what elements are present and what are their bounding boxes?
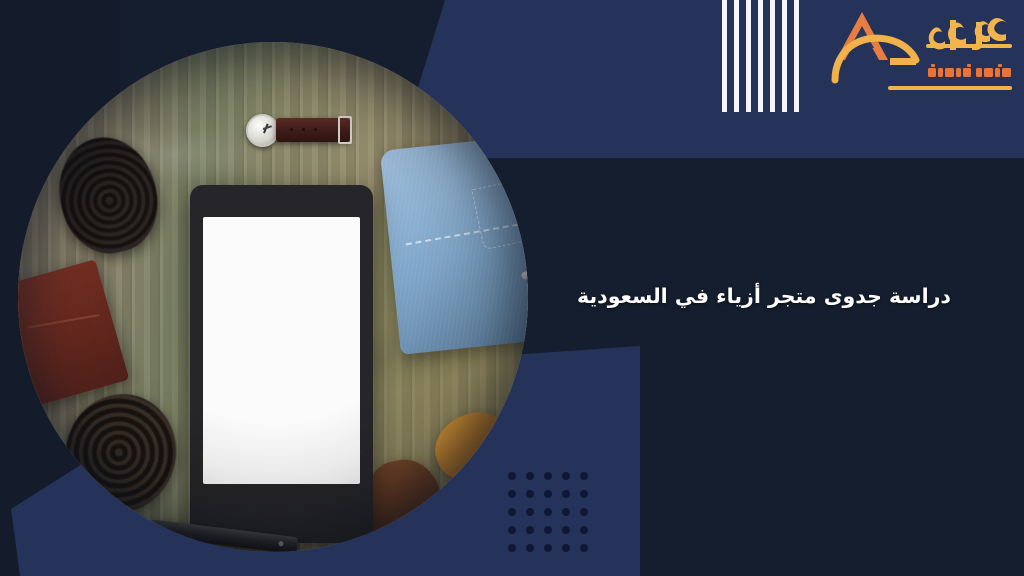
grid-dot [526, 508, 534, 516]
logo-underline [888, 86, 1012, 90]
grid-dot [580, 526, 588, 534]
grid-dot [562, 490, 570, 498]
vertical-bar [782, 0, 787, 112]
brand-logo[interactable]: معوان لخدمات رجال الاعمال [830, 6, 1016, 102]
vertical-bars-decoration [722, 0, 799, 112]
grid-dot [544, 526, 552, 534]
grid-dot [544, 490, 552, 498]
grid-dot [544, 472, 552, 480]
grid-dot [580, 544, 588, 552]
grid-dot [508, 526, 516, 534]
grid-dot [562, 472, 570, 480]
photo-content [18, 42, 528, 552]
circular-flatlay-photo [18, 42, 528, 552]
grid-dot [562, 526, 570, 534]
banner-stage: معوان لخدمات رجال الاعمال دراسة جدوى متج… [0, 0, 1024, 576]
grid-dot [562, 508, 570, 516]
page-title: دراسة جدوى متجر أزياء في السعودية [524, 283, 1004, 310]
grid-dot [544, 508, 552, 516]
grid-dot [580, 490, 588, 498]
grid-dot [508, 490, 516, 498]
grid-dot [526, 472, 534, 480]
grid-dot [526, 490, 534, 498]
grid-dot [544, 544, 552, 552]
grid-dot [508, 508, 516, 516]
grid-dot [508, 544, 516, 552]
grid-dot [562, 544, 570, 552]
photo-shadow-overlay [18, 42, 528, 552]
vertical-bar [746, 0, 751, 112]
vertical-bar [770, 0, 775, 112]
grid-dot [526, 544, 534, 552]
grid-dot [580, 472, 588, 480]
vertical-bar [734, 0, 739, 112]
vertical-bar [758, 0, 763, 112]
vertical-bar [794, 0, 799, 112]
logo-tagline [928, 64, 1011, 77]
grid-dot [508, 472, 516, 480]
vertical-bar [722, 0, 727, 112]
dot-grid-decoration [508, 472, 598, 562]
grid-dot [580, 508, 588, 516]
grid-dot [526, 526, 534, 534]
logo-wordmark [926, 18, 1012, 50]
